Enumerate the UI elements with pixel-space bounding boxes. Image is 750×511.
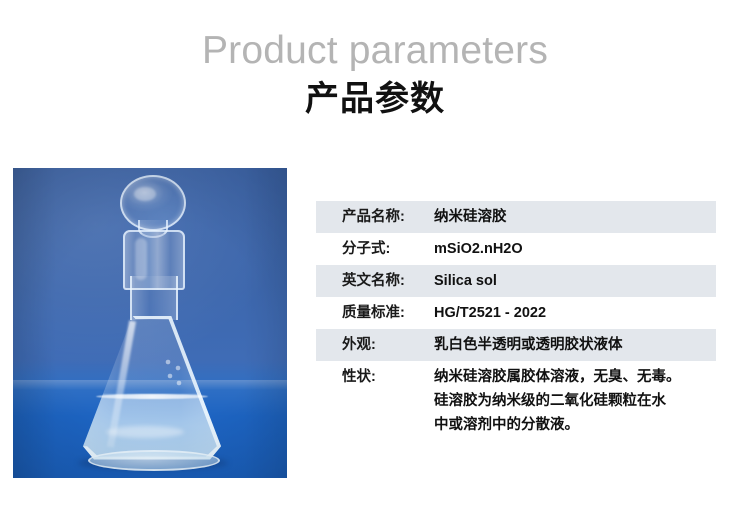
spec-value: mSiO2.nH2O bbox=[434, 237, 716, 261]
table-row: 性状:纳米硅溶胶属胶体溶液，无臭、无毒。硅溶胶为纳米级的二氧化硅颗粒在水中或溶剂… bbox=[316, 361, 716, 441]
spec-value: 纳米硅溶胶 bbox=[434, 205, 716, 229]
spec-value-line: Silica sol bbox=[434, 269, 716, 293]
table-row: 质量标准:HG/T2521 - 2022 bbox=[316, 297, 716, 329]
spec-label: 质量标准: bbox=[342, 301, 434, 325]
photo-vignette bbox=[13, 168, 287, 478]
spec-value-line: 中或溶剂中的分散液。 bbox=[434, 413, 716, 437]
spec-value: HG/T2521 - 2022 bbox=[434, 301, 716, 325]
spec-value-line: 纳米硅溶胶属胶体溶液，无臭、无毒。 bbox=[434, 365, 716, 389]
spec-value-line: 乳白色半透明或透明胶状液体 bbox=[434, 333, 716, 357]
product-parameters-table: 产品名称:纳米硅溶胶分子式:mSiO2.nH2O英文名称:Silica sol质… bbox=[316, 201, 716, 441]
spec-label: 分子式: bbox=[342, 237, 434, 261]
spec-label: 产品名称: bbox=[342, 205, 434, 229]
spec-value-line: HG/T2521 - 2022 bbox=[434, 301, 716, 325]
spec-label: 性状: bbox=[342, 365, 434, 389]
table-row: 英文名称:Silica sol bbox=[316, 265, 716, 297]
spec-value: Silica sol bbox=[434, 269, 716, 293]
spec-value: 乳白色半透明或透明胶状液体 bbox=[434, 333, 716, 357]
page-title-english: Product parameters bbox=[0, 27, 750, 75]
table-row: 产品名称:纳米硅溶胶 bbox=[316, 201, 716, 233]
page-title-chinese: 产品参数 bbox=[0, 77, 750, 121]
spec-label: 英文名称: bbox=[342, 269, 434, 293]
table-row: 外观:乳白色半透明或透明胶状液体 bbox=[316, 329, 716, 361]
product-photo bbox=[13, 168, 287, 478]
spec-value: 纳米硅溶胶属胶体溶液，无臭、无毒。硅溶胶为纳米级的二氧化硅颗粒在水中或溶剂中的分… bbox=[434, 365, 716, 437]
spec-value-line: 纳米硅溶胶 bbox=[434, 205, 716, 229]
spec-label: 外观: bbox=[342, 333, 434, 357]
spec-value-line: 硅溶胶为纳米级的二氧化硅颗粒在水 bbox=[434, 389, 716, 413]
table-row: 分子式:mSiO2.nH2O bbox=[316, 233, 716, 265]
spec-value-line: mSiO2.nH2O bbox=[434, 237, 716, 261]
